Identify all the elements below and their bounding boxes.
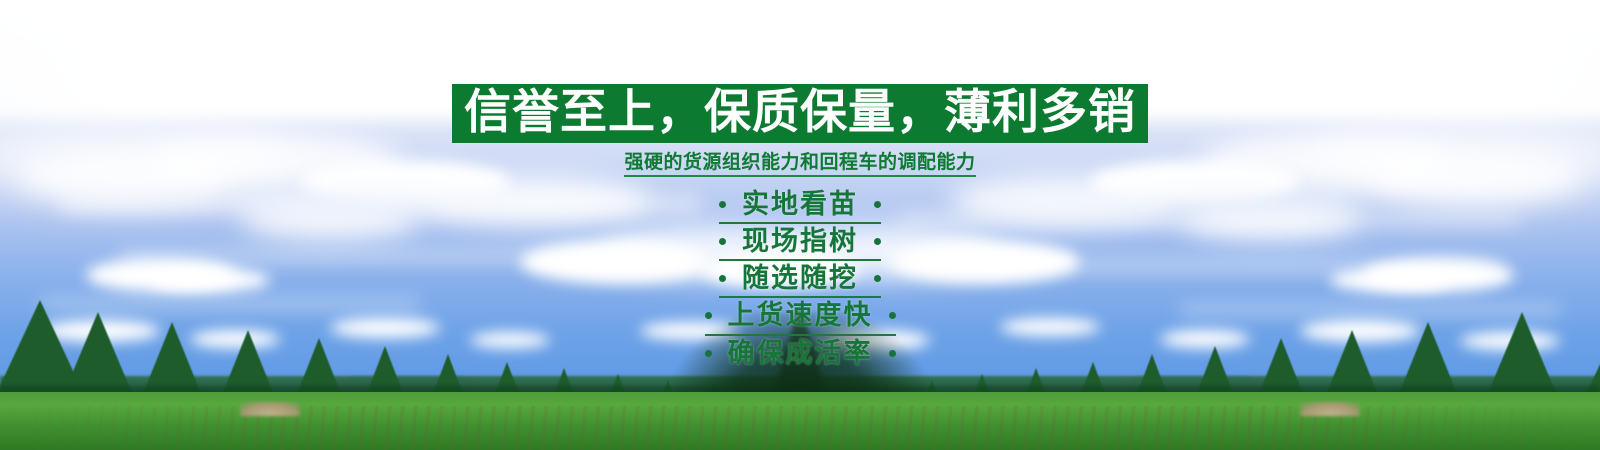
bullet-dot-icon — [719, 238, 726, 245]
bullet-dot-icon — [705, 312, 712, 319]
bullet-dot-icon — [874, 201, 881, 208]
feature-item: 现场指树 — [719, 226, 881, 261]
feature-label: 现场指树 — [742, 227, 858, 256]
feature-item: 上货速度快 — [705, 300, 896, 335]
feature-label: 实地看苗 — [742, 190, 858, 219]
bullet-dot-icon — [874, 275, 881, 282]
bullet-dot-icon — [874, 238, 881, 245]
feature-label: 随选随挖 — [742, 264, 858, 293]
bullet-dot-icon — [719, 275, 726, 282]
headline-slogan: 信誉至上，保质保量，薄利多销 — [452, 84, 1148, 143]
feature-item: 随选随挖 — [719, 263, 881, 298]
feature-list: 实地看苗 现场指树 随选随挖 上货速度快 确保成活率 — [705, 189, 896, 373]
bullet-dot-icon — [889, 312, 896, 319]
promo-banner: 信誉至上，保质保量，薄利多销 强硬的货源组织能力和回程车的调配能力 实地看苗 现… — [0, 0, 1600, 450]
bullet-dot-icon — [889, 350, 896, 357]
bullet-dot-icon — [705, 350, 712, 357]
bullet-dot-icon — [719, 201, 726, 208]
banner-content: 信誉至上，保质保量，薄利多销 强硬的货源组织能力和回程车的调配能力 实地看苗 现… — [0, 0, 1600, 450]
feature-item: 实地看苗 — [719, 189, 881, 224]
feature-label: 确保成活率 — [728, 339, 873, 368]
subtitle-capability: 强硬的货源组织能力和回程车的调配能力 — [624, 152, 975, 177]
feature-label: 上货速度快 — [728, 301, 873, 330]
feature-item: 确保成活率 — [705, 338, 896, 371]
